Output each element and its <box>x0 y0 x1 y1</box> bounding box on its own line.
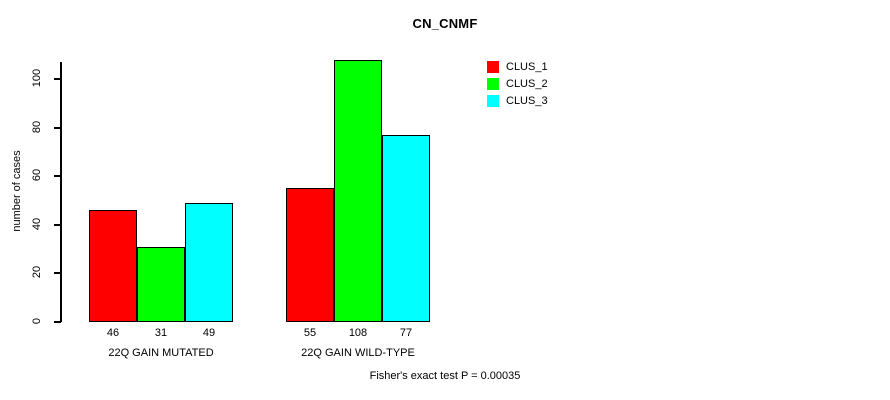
bar[interactable] <box>185 203 233 322</box>
plot-area: 100806040200 4631495510877 22Q GAIN MUTA… <box>60 55 480 325</box>
bar[interactable] <box>286 188 334 322</box>
legend-swatch-icon <box>487 61 499 73</box>
y-axis-tick <box>54 78 61 80</box>
group-label: 22Q GAIN MUTATED <box>59 347 263 359</box>
y-axis-tick-label: 80 <box>31 114 43 140</box>
y-axis-tick <box>54 321 61 323</box>
legend-item: CLUS_2 <box>487 75 548 92</box>
legend-item-label: CLUS_1 <box>506 61 548 73</box>
y-axis-label: number of cases <box>11 126 23 256</box>
bar-value-label: 108 <box>334 327 382 339</box>
legend: CLUS_1 CLUS_2 CLUS_3 <box>487 58 548 109</box>
legend-swatch-icon <box>487 78 499 90</box>
legend-item-label: CLUS_3 <box>506 95 548 107</box>
y-axis-tick-label: 20 <box>31 259 43 285</box>
y-axis-tick-label: 40 <box>31 211 43 237</box>
legend-item: CLUS_3 <box>487 92 548 109</box>
y-axis-tick-label: 0 <box>31 308 43 334</box>
legend-item: CLUS_1 <box>487 58 548 75</box>
legend-item-label: CLUS_2 <box>506 78 548 90</box>
chart-title: CN_CNMF <box>0 16 890 31</box>
y-axis-tick-label: 100 <box>31 65 43 91</box>
y-axis-tick-label: 60 <box>31 162 43 188</box>
y-axis-line <box>60 62 62 322</box>
bar-value-label: 31 <box>137 327 185 339</box>
y-axis-tick <box>54 224 61 226</box>
legend-swatch-icon <box>487 95 499 107</box>
bar[interactable] <box>334 60 382 322</box>
y-axis-tick <box>54 127 61 129</box>
bar-value-label: 77 <box>382 327 430 339</box>
y-axis-tick <box>54 272 61 274</box>
bar[interactable] <box>137 247 185 322</box>
y-axis-tick <box>54 175 61 177</box>
bar[interactable] <box>89 210 137 322</box>
bar-value-label: 46 <box>89 327 137 339</box>
group-label: 22Q GAIN WILD-TYPE <box>256 347 460 359</box>
bar-value-label: 55 <box>286 327 334 339</box>
barplot-figure: CN_CNMF number of cases 100806040200 463… <box>0 0 890 400</box>
statistics-annotation: Fisher's exact test P = 0.00035 <box>0 370 890 382</box>
bar[interactable] <box>382 135 430 322</box>
bar-value-label: 49 <box>185 327 233 339</box>
